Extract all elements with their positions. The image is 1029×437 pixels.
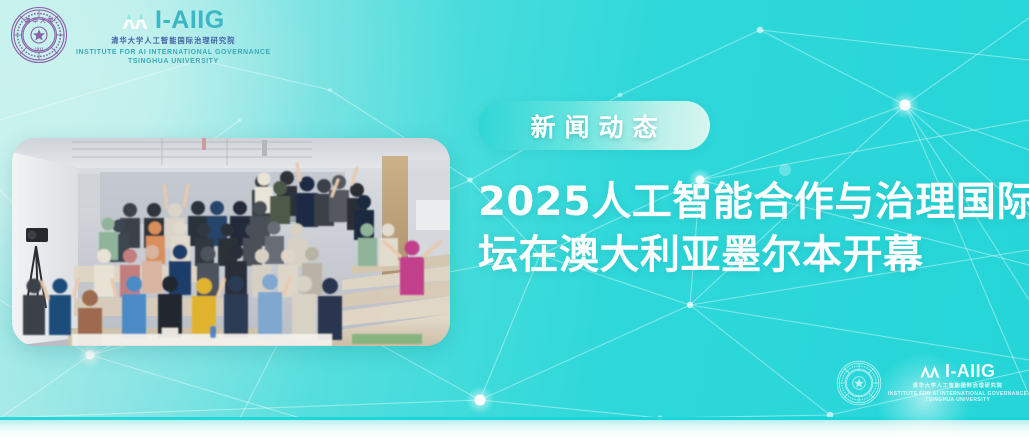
watermark-name-en-line2: TSINGHUA UNIVERSITY xyxy=(925,397,990,403)
headline-line-2: 坛在澳大利亚墨尔本开幕 xyxy=(478,229,918,282)
conference-group-photo[interactable] xyxy=(12,138,450,346)
bottom-fade-strip xyxy=(0,420,1029,437)
watermark-iaiig-wordmark: I-AIIG xyxy=(945,362,995,380)
iaiig-brand-block: I-AIIG 清华大学人工智能国际治理研究院 INSTITUTE FOR AI … xyxy=(76,4,271,67)
institute-name-en: INSTITUTE FOR AI INTERNATIONAL GOVERNANC… xyxy=(76,48,271,67)
institute-name-en-line1: INSTITUTE FOR AI INTERNATIONAL GOVERNANC… xyxy=(76,49,271,56)
header-logo-lockup[interactable]: 清 华 大 学 1911 I-AIIG 清华大学人工智能国际治理研究院 INST… xyxy=(10,4,271,67)
watermark-name-en-line1: INSTITUTE FOR AI INTERNATIONAL GOVERNANC… xyxy=(888,391,1027,397)
institute-name-en-line2: TSINGHUA UNIVERSITY xyxy=(128,58,219,65)
iaiig-peaks-icon xyxy=(122,10,152,32)
institute-name-cn: 清华大学人工智能国际治理研究院 xyxy=(111,36,235,46)
headline-line-1: 2025人工智能合作与治理国际论 xyxy=(478,176,918,229)
iaiig-wordmark: I-AIIG xyxy=(155,8,225,33)
news-category-label: 新闻动态 xyxy=(521,108,666,144)
news-banner: 清 华 大 学 1911 I-AIIG 清华大学人工智能国际治理研究院 INST… xyxy=(0,0,1029,437)
news-category-badge[interactable]: 新闻动态 xyxy=(478,101,710,150)
tsinghua-seal-icon: 清 华 大 学 1911 xyxy=(10,6,68,64)
watermark-brand-block: I-AIIG 清华大学人工智能国际治理研究院 INSTITUTE FOR AI … xyxy=(888,362,1027,404)
watermark-tsinghua-seal-icon xyxy=(836,360,882,406)
watermark-iaiig-peaks-icon xyxy=(920,363,943,380)
svg-text:清 华 大 学: 清 华 大 学 xyxy=(25,17,54,25)
page-title: 2025人工智能合作与治理国际论 坛在澳大利亚墨尔本开幕 xyxy=(478,176,918,282)
watermark-institute-name-en: INSTITUTE FOR AI INTERNATIONAL GOVERNANC… xyxy=(888,391,1027,405)
watermark-logo-lockup: I-AIIG 清华大学人工智能国际治理研究院 INSTITUTE FOR AI … xyxy=(836,360,1027,406)
watermark-institute-name-cn: 清华大学人工智能国际治理研究院 xyxy=(913,382,1003,389)
svg-text:1911: 1911 xyxy=(34,47,44,52)
